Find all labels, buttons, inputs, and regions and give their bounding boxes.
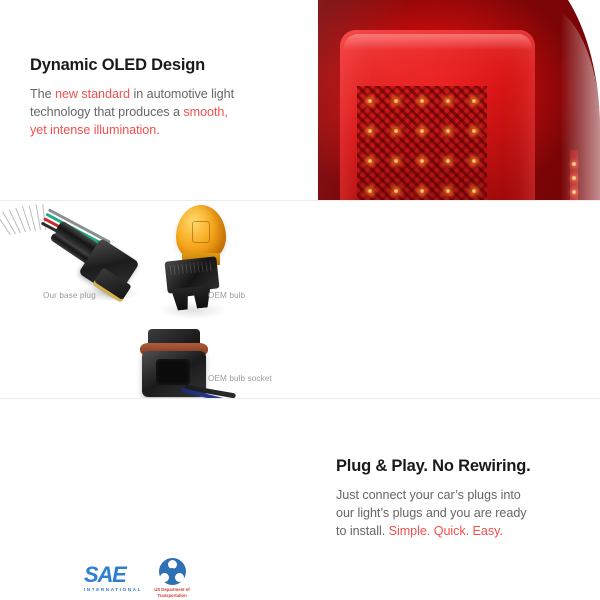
- led-dot: [471, 128, 477, 134]
- oled-text-block: Dynamic OLED Design The new standard in …: [30, 56, 280, 139]
- sae-wordmark: SAE: [84, 564, 136, 586]
- oled-body-l1a: The: [30, 87, 55, 101]
- led-dot: [471, 188, 477, 194]
- led-dot: [419, 98, 425, 104]
- led-dot: [419, 158, 425, 164]
- led-dot: [393, 158, 399, 164]
- bulb-filament: [192, 221, 210, 243]
- led-dot: [445, 98, 451, 104]
- oled-body-l2a: technology that produces a: [30, 105, 183, 119]
- oled-headline: Dynamic OLED Design: [30, 56, 280, 76]
- certification-logos: SAE INTERNATIONAL US Department of Trans…: [84, 558, 196, 598]
- led-dot: [367, 98, 373, 104]
- panel-oled-design: Dynamic OLED Design The new standard in …: [0, 0, 600, 200]
- us-dot-logo: US Department of Transportation: [148, 558, 196, 598]
- led-dot: [419, 188, 425, 194]
- led-dot: [393, 98, 399, 104]
- bulb-shadow: [158, 301, 228, 319]
- led-dot: [445, 158, 451, 164]
- dot-triskelion-icon: [159, 558, 186, 585]
- taillight-edge-glow: [534, 0, 600, 200]
- oled-body-l2b: smooth,: [183, 105, 227, 119]
- taillight-bevel: [344, 34, 532, 50]
- led-dot: [367, 188, 373, 194]
- led-dot: [471, 158, 477, 164]
- sae-subtitle: INTERNATIONAL: [84, 587, 136, 592]
- socket-opening: [156, 359, 190, 385]
- led-dot: [367, 128, 373, 134]
- led-dot: [393, 188, 399, 194]
- led-dot: [419, 128, 425, 134]
- oled-body: The new standard in automotive light tec…: [30, 86, 280, 140]
- caption-oem-bulb-socket: OEM bulb socket: [208, 374, 272, 383]
- caption-our-base-plug: Our base plug: [43, 291, 96, 300]
- led-dot: [367, 158, 373, 164]
- led-dot: [471, 98, 477, 104]
- oled-body-l1c: in automotive light: [130, 87, 234, 101]
- dot-logo-line2: Transportation: [157, 593, 186, 598]
- led-array: [357, 86, 487, 200]
- led-dot: [393, 128, 399, 134]
- led-dot: [445, 128, 451, 134]
- oled-body-l3b: .: [156, 123, 159, 137]
- dot-logo-text: US Department of Transportation: [154, 587, 189, 598]
- oled-body-l1b: new standard: [55, 87, 130, 101]
- dot-logo-line1: US Department of: [154, 587, 189, 592]
- oled-body-l3a: yet intense illumination: [30, 123, 156, 137]
- caption-oem-bulb: OEM bulb: [208, 291, 245, 300]
- led-dot: [445, 188, 451, 194]
- sae-international-logo: SAE INTERNATIONAL: [84, 564, 136, 592]
- product-feature-infographic: Dynamic OLED Design The new standard in …: [0, 0, 600, 600]
- led-taillight-photo: [300, 0, 600, 200]
